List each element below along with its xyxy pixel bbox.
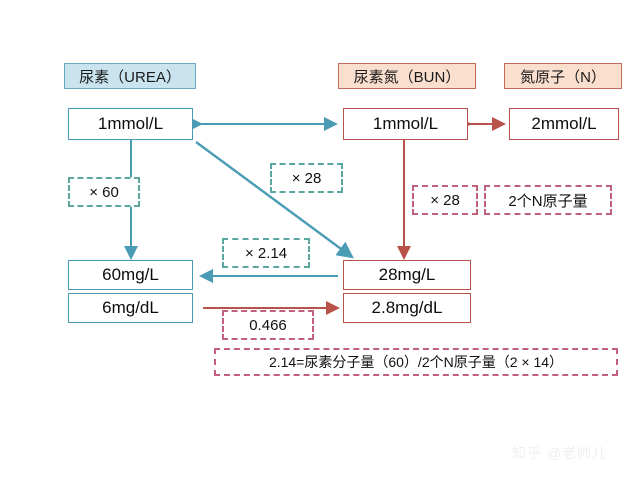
node-n-mmol: 2mmol/L [509, 108, 619, 140]
annotation-0466: 0.466 [222, 310, 314, 340]
node-n-mmol-label: 2mmol/L [531, 114, 596, 134]
annotation-0466-label: 0.466 [249, 317, 287, 334]
header-urea: 尿素（UREA） [64, 63, 196, 89]
node-bun-mgl: 28mg/L [343, 260, 471, 290]
annotation-x28-diagonal: × 28 [270, 163, 343, 193]
annotation-n-atoms: 2个N原子量 [484, 185, 612, 215]
watermark-label: 知乎 @老帅儿 [512, 445, 607, 461]
header-nitrogen-label: 氮原子（N） [520, 66, 606, 87]
watermark: 知乎 @老帅儿 [512, 443, 607, 463]
node-bun-mmol-label: 1mmol/L [373, 114, 438, 134]
annotation-x60-label: × 60 [89, 184, 119, 201]
diagram-canvas: 尿素（UREA） 尿素氮（BUN） 氮原子（N） 1mmol/L 1mmol/L… [0, 0, 640, 480]
node-urea-mgdl-label: 6mg/dL [102, 298, 159, 318]
annotation-formula: 2.14=尿素分子量（60）/2个N原子量（2 × 14） [214, 348, 618, 376]
node-urea-mgdl: 6mg/dL [68, 293, 193, 323]
node-urea-mgl: 60mg/L [68, 260, 193, 290]
annotation-formula-label: 2.14=尿素分子量（60）/2个N原子量（2 × 14） [269, 352, 563, 372]
header-bun: 尿素氮（BUN） [338, 63, 476, 89]
annotation-x214: × 2.14 [222, 238, 310, 268]
node-bun-mgl-label: 28mg/L [379, 265, 436, 285]
annotation-x28-vertical-label: × 28 [430, 192, 460, 209]
node-bun-mmol: 1mmol/L [343, 108, 468, 140]
header-bun-label: 尿素氮（BUN） [354, 66, 461, 87]
header-urea-label: 尿素（UREA） [79, 66, 181, 87]
annotation-x28-vertical: × 28 [412, 185, 478, 215]
node-urea-mgl-label: 60mg/L [102, 265, 159, 285]
node-urea-mmol-label: 1mmol/L [98, 114, 163, 134]
node-bun-mgdl: 2.8mg/dL [343, 293, 471, 323]
annotation-x60: × 60 [68, 177, 140, 207]
annotation-x28-diagonal-label: × 28 [292, 170, 322, 187]
annotation-n-atoms-label: 2个N原子量 [508, 190, 587, 211]
header-nitrogen: 氮原子（N） [504, 63, 622, 89]
node-bun-mgdl-label: 2.8mg/dL [372, 298, 443, 318]
node-urea-mmol: 1mmol/L [68, 108, 193, 140]
annotation-x214-label: × 2.14 [245, 245, 287, 262]
